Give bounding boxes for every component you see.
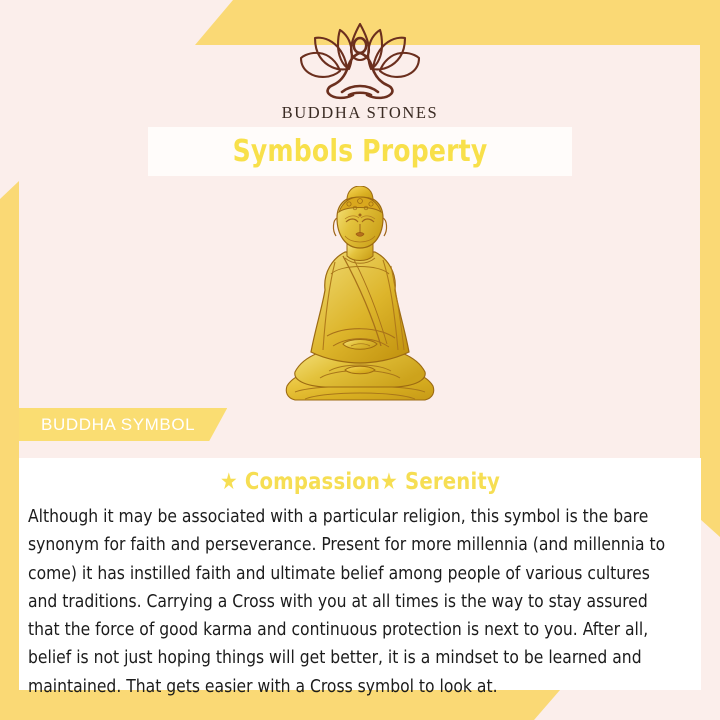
- page-title: Symbols Property: [233, 134, 488, 169]
- lotus-meditation-icon: [285, 22, 435, 100]
- content-subheading: ★ Compassion★ Serenity: [36, 469, 684, 495]
- poster-canvas: BUDDHA STONES Symbols Property: [0, 0, 720, 720]
- symbol-tag: BUDDHA SYMBOL: [19, 408, 227, 441]
- title-banner: Symbols Property: [148, 127, 572, 176]
- content-body: Although it may be associated with a par…: [28, 503, 682, 701]
- buddha-illustration: [0, 182, 720, 408]
- brand-name: BUDDHA STONES: [265, 103, 455, 123]
- content-card: ★ Compassion★ Serenity Although it may b…: [19, 458, 701, 690]
- golden-buddha-statue-icon: [265, 186, 455, 408]
- brand-logo: BUDDHA STONES: [265, 22, 455, 123]
- symbol-tag-label: BUDDHA SYMBOL: [41, 415, 195, 435]
